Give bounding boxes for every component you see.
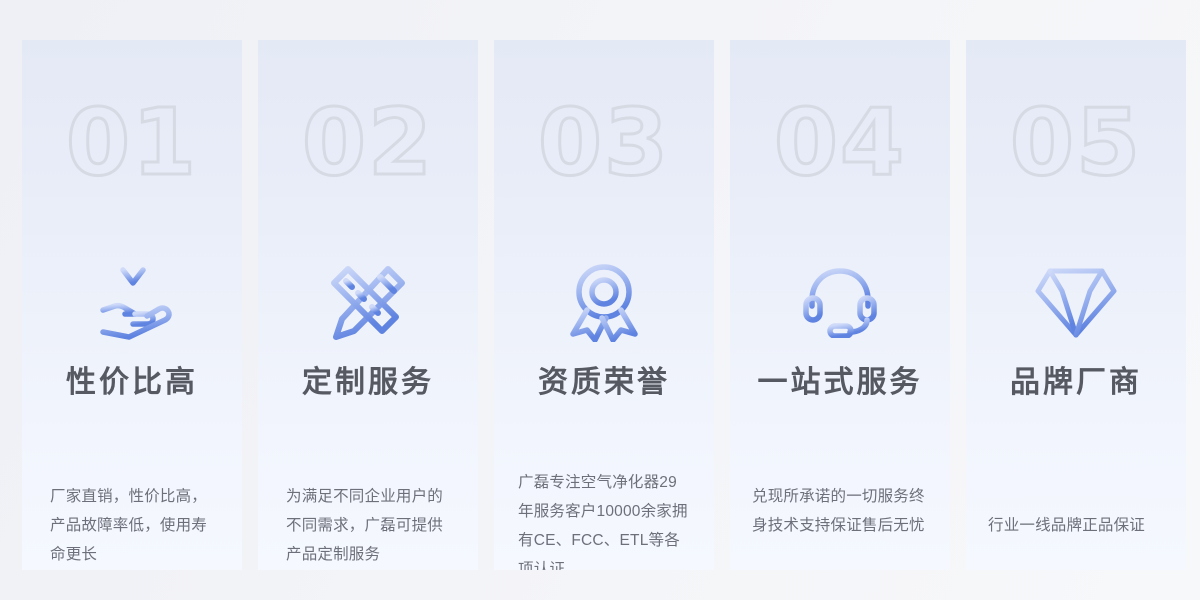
card-index-number: 04 — [730, 88, 950, 198]
headset-support-icon — [730, 262, 950, 342]
card-index-number: 01 — [22, 88, 242, 198]
card-title: 一站式服务 — [730, 362, 950, 404]
card-index-number: 03 — [494, 88, 714, 198]
feature-card-list: 01 性价比高 厂家直销，性价比高，产品故障率低，使用寿命更长 02 — [22, 40, 1200, 570]
feature-card[interactable]: 02 定制服务 为满足不同企业用户的不同需求，广磊可提供产品定制服务 — [258, 40, 478, 570]
hand-holding-yuan-icon — [22, 262, 242, 342]
card-description: 行业一线品牌正品保证 — [988, 511, 1164, 540]
card-index-number: 02 — [258, 88, 478, 198]
card-title: 定制服务 — [258, 362, 478, 404]
diamond-icon — [966, 262, 1186, 342]
card-description: 厂家直销，性价比高，产品故障率低，使用寿命更长 — [50, 482, 220, 569]
card-title: 品牌厂商 — [966, 362, 1186, 404]
card-index-number: 05 — [966, 88, 1186, 198]
pencil-ruler-icon — [258, 262, 478, 342]
card-description: 兑现所承诺的一切服务终身技术支持保证售后无忧 — [752, 482, 928, 540]
feature-card[interactable]: 01 性价比高 厂家直销，性价比高，产品故障率低，使用寿命更长 — [22, 40, 242, 570]
card-description: 为满足不同企业用户的不同需求，广磊可提供产品定制服务 — [286, 482, 456, 569]
card-title: 性价比高 — [22, 362, 242, 404]
card-description: 广磊专注空气净化器29年服务客户10000余家拥有CE、FCC、ETL等各项认证 — [518, 468, 692, 570]
feature-card[interactable]: 05 品牌厂商 行业一线品牌正品保证 — [966, 40, 1186, 570]
card-title: 资质荣誉 — [494, 362, 714, 404]
award-medal-icon — [494, 262, 714, 342]
features-section: 01 性价比高 厂家直销，性价比高，产品故障率低，使用寿命更长 02 — [0, 0, 1200, 600]
feature-card[interactable]: 04 一站式服务 兑现所承诺的一切服务终身技术支持保证售后无忧 — [730, 40, 950, 570]
feature-card[interactable]: 03 资质荣誉 广磊专注空气净化器29年服务客户10000余家拥有CE、FCC、… — [494, 40, 714, 570]
